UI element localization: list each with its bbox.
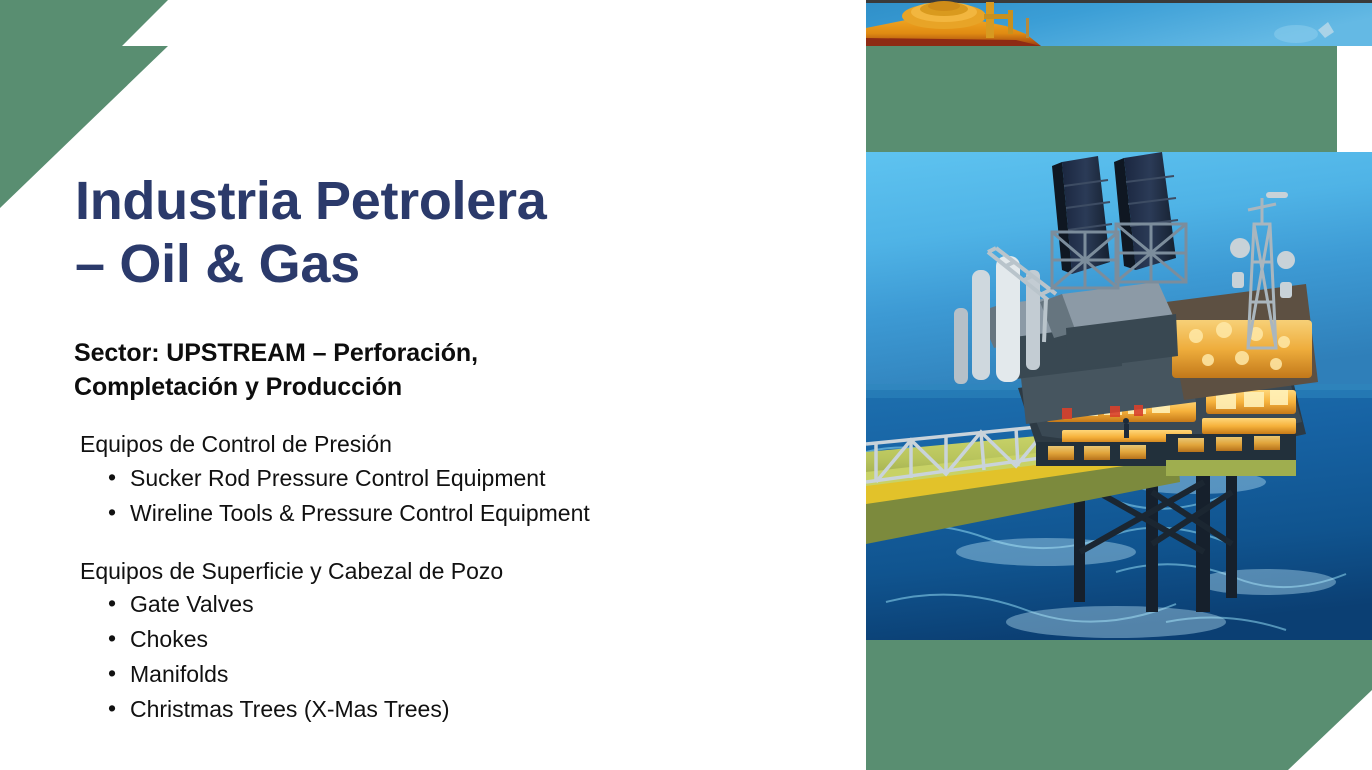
list-item: Christmas Trees (X-Mas Trees) [108,692,794,727]
text-column: Industria Petrolera – Oil & Gas Sector: … [0,0,840,770]
list-item: Wireline Tools & Pressure Control Equipm… [108,496,794,531]
content-group: Equipos de Superficie y Cabezal de Pozo … [74,555,794,727]
subtitle: Sector: UPSTREAM – Perforación, Completa… [74,336,674,405]
list-item: Manifolds [108,657,794,692]
page-title: Industria Petrolera – Oil & Gas [75,170,815,295]
derrick-photo-strip [866,0,1372,46]
content-groups: Equipos de Control de Presión Sucker Rod… [74,428,794,727]
group-heading: Equipos de Superficie y Cabezal de Pozo [74,555,794,588]
group-list: Gate Valves Chokes Manifolds Christmas T… [74,587,794,727]
offshore-rig-photo-image [866,152,1372,645]
list-item: Sucker Rod Pressure Control Equipment [108,461,794,496]
green-band-decoration [866,46,1337,154]
derrick-photo-strip-image [866,0,1372,46]
slide: Industria Petrolera – Oil & Gas Sector: … [0,0,1372,770]
offshore-rig-photo [866,152,1372,645]
group-list: Sucker Rod Pressure Control Equipment Wi… [74,461,794,531]
list-item: Gate Valves [108,587,794,622]
content-group: Equipos de Control de Presión Sucker Rod… [74,428,794,531]
green-corner-decoration-bottom-right [860,640,1372,770]
list-item: Chokes [108,622,794,657]
group-heading: Equipos de Control de Presión [74,428,794,461]
